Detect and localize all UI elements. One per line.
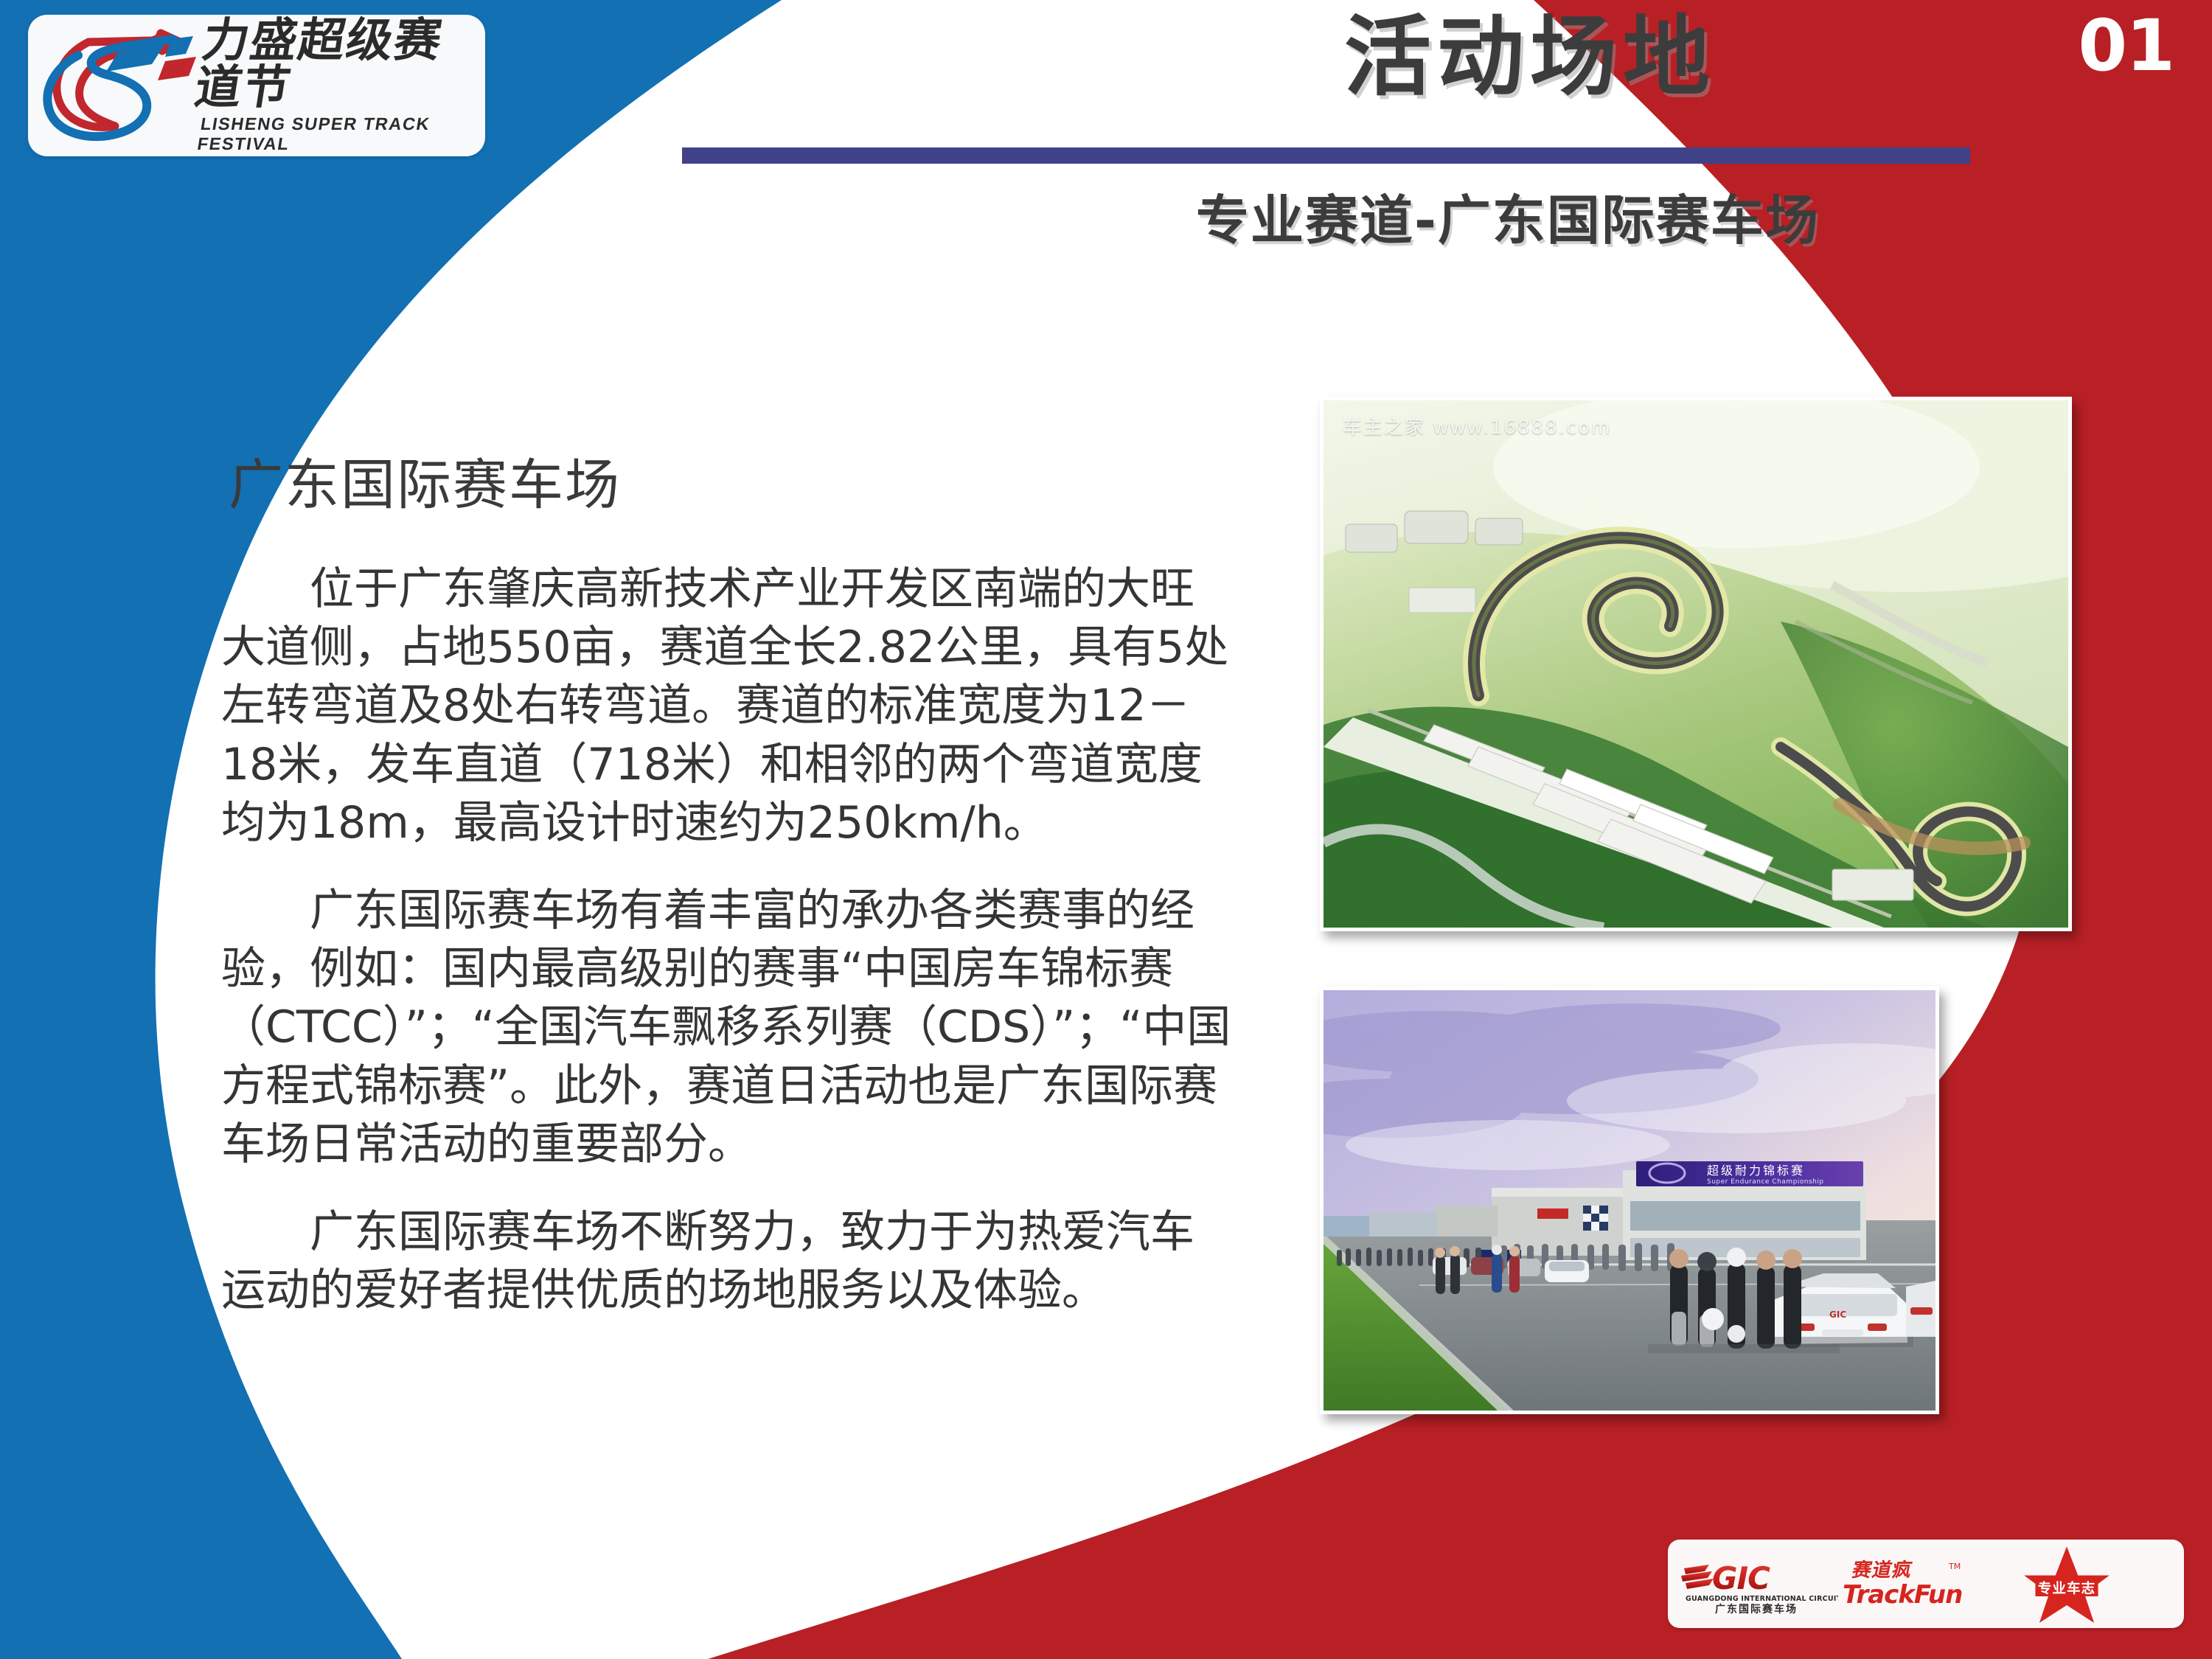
page-number-badge: 01 — [2078, 10, 2174, 81]
aerial-circuit-rendering: 车主之家 www.16888.com — [1320, 397, 2072, 931]
aerial-circuit-image — [1324, 400, 2068, 928]
logo-chinese-text: 力盛超级赛道节 — [192, 17, 485, 112]
gic-logo-icon: GIC GUANGDONG INTERNATIONAL CIRCUIT 广东国际… — [1680, 1552, 1838, 1615]
svg-text:GUANGDONG INTERNATIONAL CIRCUI: GUANGDONG INTERNATIONAL CIRCUIT — [1686, 1595, 1838, 1603]
lisheng-track-swoosh-icon — [35, 23, 205, 148]
svg-text:GIC: GIC — [1829, 1310, 1846, 1320]
svg-text:GIC: GIC — [1712, 1560, 1770, 1596]
svg-text:TrackFun: TrackFun — [1843, 1580, 1962, 1610]
slide-root: 力盛超级赛道节 LISHENG SUPER TRACK FESTIVAL 活动场… — [0, 0, 2212, 1659]
body-paragraph-2: 广东国际赛车场有着丰富的承办各类赛事的经验，例如：国内最高级别的赛事“中国房车锦… — [221, 882, 1231, 1174]
brand-logo-badge: 力盛超级赛道节 LISHENG SUPER TRACK FESTIVAL — [28, 15, 485, 156]
body-paragraph-1: 位于广东肇庆高新技术产业开发区南端的大旺大道侧，占地550亩，赛道全长2.82公… — [221, 560, 1231, 852]
page-subtitle: 专业赛道-广东国际赛车场 — [1047, 177, 1969, 254]
svg-text:广东国际赛车场: 广东国际赛车场 — [1715, 1603, 1798, 1615]
star-badge-icon: 专业车志 — [2023, 1543, 2111, 1624]
svg-text:TM: TM — [1948, 1562, 1961, 1571]
page-title: 活动场地 — [1150, 7, 1910, 108]
svg-text:专业车志: 专业车志 — [2038, 1581, 2096, 1597]
paddock-image: 超级耐力锦标赛 Super Endurance Championship — [1324, 990, 1935, 1411]
svg-text:赛道疯: 赛道疯 — [1849, 1559, 1914, 1582]
zhuanyechezhi-star-logo: 专业车志 — [2023, 1540, 2111, 1628]
gic-logo: GIC GUANGDONG INTERNATIONAL CIRCUIT 广东国际… — [1680, 1540, 1838, 1628]
title-divider-rule — [682, 147, 1970, 164]
body-copy: 位于广东肇庆高新技术产业开发区南端的大旺大道侧，占地550亩，赛道全长2.82公… — [221, 560, 1231, 1320]
trackfun-logo: 赛道疯 TM TrackFun — [1838, 1540, 2000, 1628]
paddock-pit-lane-photo: 超级耐力锦标赛 Super Endurance Championship — [1320, 987, 1939, 1414]
logo-english-text: LISHENG SUPER TRACK FESTIVAL — [196, 114, 485, 154]
body-paragraph-3: 广东国际赛车场不断努力，致力于为热爱汽车运动的爱好者提供优质的场地服务以及体验。 — [221, 1203, 1231, 1320]
section-heading: 广东国际赛车场 — [229, 441, 621, 520]
trackfun-logo-icon: 赛道疯 TM TrackFun — [1838, 1554, 2000, 1613]
footer-sponsor-bar: GIC GUANGDONG INTERNATIONAL CIRCUIT 广东国际… — [1668, 1540, 2184, 1628]
svg-text:Super Endurance Championship: Super Endurance Championship — [1707, 1178, 1824, 1186]
svg-text:超级耐力锦标赛: 超级耐力锦标赛 — [1707, 1164, 1805, 1178]
